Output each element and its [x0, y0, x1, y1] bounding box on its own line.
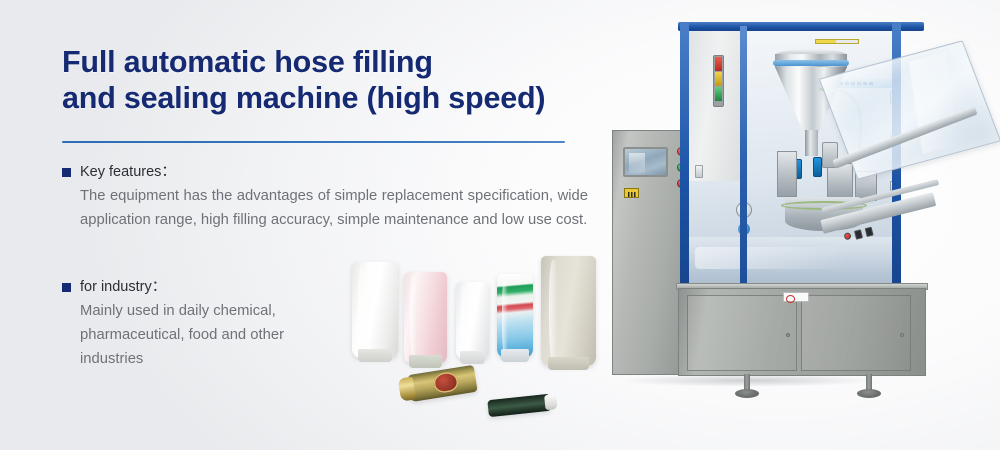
- machine-worktop: [689, 237, 892, 289]
- feature-label: Key features：: [80, 163, 176, 181]
- gold-ornate-tube: [406, 365, 477, 402]
- frame-bar-top: [678, 22, 924, 31]
- hmi-touchscreen: [623, 147, 668, 177]
- title-divider: [62, 141, 565, 143]
- sealing-unit-block: [827, 163, 853, 199]
- stack-light-yellow: [715, 72, 722, 86]
- title-line-2: and sealing machine (high speed): [62, 80, 582, 116]
- feature-block-key-features: Key features： The equipment has the adva…: [62, 163, 588, 232]
- sensor-blue-2: [813, 157, 822, 177]
- no-entry-sticker-icon: [783, 292, 809, 302]
- product-banner: Full automatic hose filling and sealing …: [0, 0, 1000, 450]
- feature-heading: for industry：: [62, 278, 342, 296]
- hopper-clamp: [773, 60, 849, 66]
- white-flower-tube: [352, 262, 398, 358]
- conveyor-red-button: [843, 232, 851, 240]
- dark-green-tube: [487, 394, 550, 417]
- square-bullet-icon: [62, 168, 71, 177]
- page-title: Full automatic hose filling and sealing …: [62, 44, 582, 116]
- filling-head-block: [777, 151, 797, 197]
- feature-block-for-industry: for industry： Mainly used in daily chemi…: [62, 278, 342, 371]
- stack-light-tower: [713, 55, 724, 107]
- panel-clip: [695, 165, 703, 178]
- conveyor-switch: [854, 229, 863, 239]
- beige-large-tube: [541, 256, 596, 366]
- frame-bar-middle: [740, 26, 747, 304]
- leveling-foot: [744, 374, 750, 392]
- feature-label: for industry：: [80, 278, 166, 296]
- warning-label-icon: [624, 188, 639, 198]
- base-cabinet: [678, 288, 926, 376]
- cabinet-door-right: [801, 295, 911, 371]
- feature-body: The equipment has the advantages of simp…: [80, 184, 588, 232]
- cosmetic-hose-tubes-group: [352, 256, 604, 424]
- pink-christina-tube: [404, 272, 447, 364]
- stack-light-red: [715, 57, 722, 71]
- feature-heading: Key features：: [62, 163, 588, 181]
- leveling-foot: [866, 374, 872, 392]
- stack-light-green: [715, 87, 722, 101]
- frame-bar-left: [680, 22, 689, 304]
- hose-filling-sealing-machine: [608, 22, 1000, 390]
- feature-body: Mainly used in daily chemical, pharmaceu…: [80, 299, 342, 371]
- text-column: Full automatic hose filling and sealing …: [62, 44, 582, 116]
- white-paumard-tube: [456, 282, 489, 360]
- cabinet-door-left: [687, 295, 797, 371]
- sunplay-kids-tube: [497, 274, 533, 358]
- title-line-1: Full automatic hose filling: [62, 45, 433, 79]
- safety-sticker: [815, 39, 859, 44]
- square-bullet-icon: [62, 283, 71, 292]
